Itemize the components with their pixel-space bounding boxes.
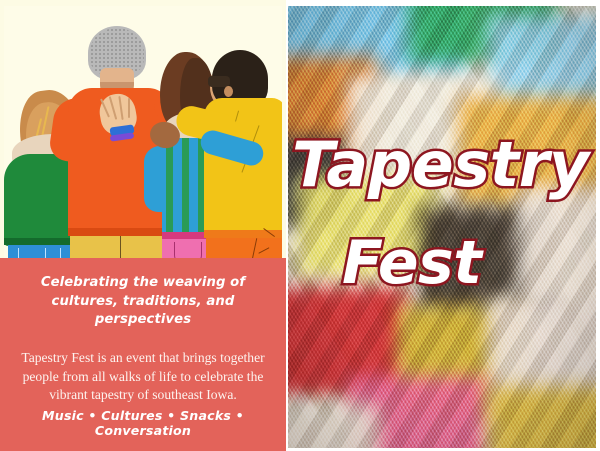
tagline-text: Celebrating the weaving of cultures, tra…: [12, 274, 274, 330]
orange-pants: [206, 238, 282, 260]
illustration-canvas: [4, 6, 282, 260]
body-paragraph: Tapestry Fest is an event that brings to…: [12, 349, 274, 404]
yarn-vignette: [288, 6, 596, 448]
finger: [128, 98, 130, 118]
yarn-photo: [288, 6, 596, 448]
coral-text-panel: Celebrating the weaving of cultures, tra…: [0, 258, 286, 451]
ear: [224, 86, 233, 97]
orange-shirt-hem: [68, 228, 172, 236]
footer-activities: Music • Cultures • Snacks • Conversation: [0, 408, 286, 438]
left-column: Celebrating the weaving of cultures, tra…: [0, 0, 286, 451]
shirt-stripe: [182, 138, 189, 238]
shirt-stripe: [166, 138, 173, 238]
pants-seam: [120, 236, 121, 260]
illustration-panel: [0, 0, 286, 260]
right-column: [286, 0, 600, 451]
poster-canvas: Celebrating the weaving of cultures, tra…: [0, 0, 600, 451]
